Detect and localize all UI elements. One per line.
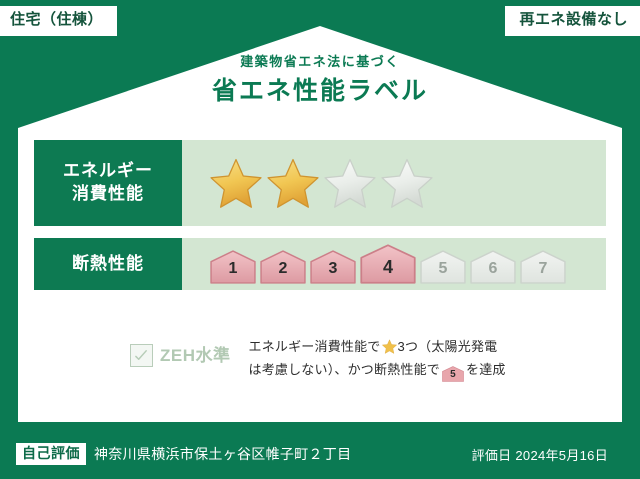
category-badge: 住宅（住棟） [0,6,117,36]
energy-rating-body [182,140,606,226]
insulation-level-value: 3 [329,261,338,284]
star-glyph [268,160,318,208]
star-icon [382,339,397,354]
insulation-level-value: 1 [229,261,238,284]
insulation-performance-label: 断熱性能 [34,238,182,290]
insulation-performance-row: 断熱性能 1234567 [34,238,606,290]
insulation-level-scale: 1234567 [210,244,566,284]
renewable-equipment-badge: 再エネ設備なし [505,6,640,36]
evaluation-date: 評価日 2024年5月16日 [472,445,608,464]
insulation-level-value: 5 [439,261,448,284]
star-glyph [325,160,375,208]
insulation-level-chip-2: 2 [260,250,306,284]
checkbox-check-icon [130,344,153,367]
check-glyph [134,348,149,363]
insulation-level-chip-inline-value: 5 [442,366,464,384]
energy-performance-row: エネルギー 消費性能 [34,140,606,226]
star-icon-filled [210,157,262,209]
insulation-level-value: 4 [383,258,393,284]
insulation-level-chip-4: 4 [360,244,416,284]
star-glyph [382,160,432,208]
insulation-level-value: 6 [489,261,498,284]
evaluation-type-badge: 自己評価 [16,443,86,465]
zeh-standard-row: ZEH水準 エネルギー消費性能で 3つ（太陽光発電 は考慮しない）、かつ断熱性能… [34,336,606,382]
energy-label-line2: 消費性能 [72,183,144,206]
insulation-level-value: 7 [539,261,548,284]
star-icon-empty [381,157,433,209]
property-address: 神奈川県横浜市保土ヶ谷区帷子町２丁目 [94,444,351,464]
star-icon-empty [324,157,376,209]
insulation-level-chip-inline: 5 [442,366,464,382]
label-footer: 自己評価 神奈川県横浜市保土ヶ谷区帷子町２丁目 評価日 2024年5月16日 [0,437,640,471]
insulation-level-chip-5: 5 [420,250,466,284]
zeh-desc-part1: エネルギー消費性能で [249,339,381,354]
zeh-desc-part2: 3つ（太陽光発電 [398,339,498,354]
zeh-description: エネルギー消費性能で 3つ（太陽光発電 は考慮しない）、かつ断熱性能で 5 を達… [249,336,607,382]
star-glyph [211,160,261,208]
insulation-level-chip-6: 6 [470,250,516,284]
insulation-level-chip-3: 3 [310,250,356,284]
energy-label-line1: エネルギー [63,160,153,183]
insulation-level-value: 2 [279,261,288,284]
zeh-mark-label: ZEH水準 [160,347,231,364]
insulation-label-line1: 断熱性能 [72,253,144,276]
insulation-level-chip-1: 1 [210,250,256,284]
star-icon-filled [267,157,319,209]
zeh-desc-part3: は考慮しない）、かつ断熱性能で [249,362,441,377]
energy-performance-label: 住宅（住棟） 再エネ設備なし 建築物省エネ法に基づく 省エネ性能ラベル エネルギ… [0,0,640,479]
insulation-level-chip-7: 7 [520,250,566,284]
zeh-mark: ZEH水準 [130,344,231,367]
zeh-desc-part4: を達成 [466,362,506,377]
star-rating [210,157,433,209]
insulation-rating-body: 1234567 [182,238,606,290]
energy-performance-label: エネルギー 消費性能 [34,140,182,226]
